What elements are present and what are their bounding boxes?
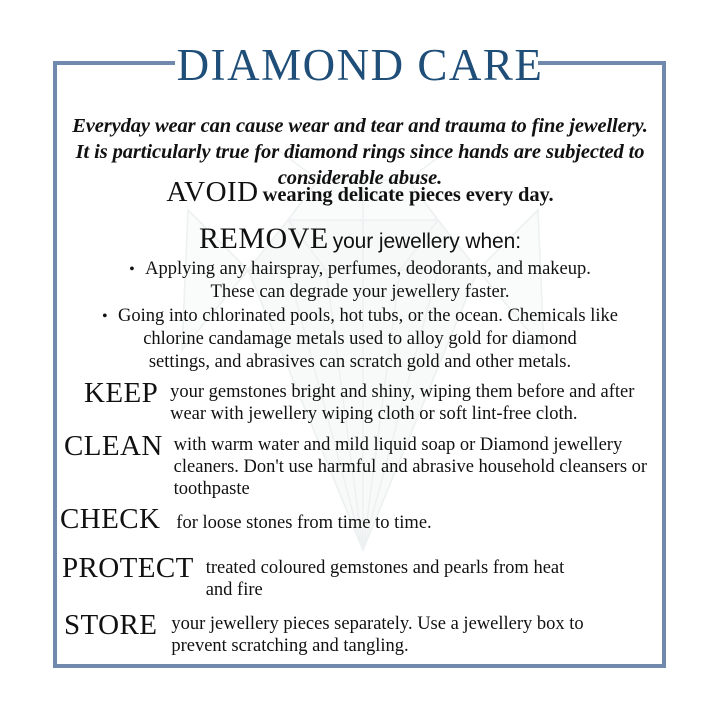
list-item: •Applying any hairspray, perfumes, deodo… (0, 258, 720, 304)
bullet-first-line: •Going into chlorinated pools, hot tubs,… (0, 305, 720, 328)
list-item: •Going into chlorinated pools, hot tubs,… (0, 305, 720, 374)
care-text-store: your jewellery pieces separately. Use a … (157, 610, 624, 657)
bullet-dot-icon: • (102, 305, 118, 328)
care-text-check: for loose stones from time to time. (160, 504, 530, 534)
headline-keyword-avoid: AVOID (166, 176, 258, 208)
care-section-protect: PROTECT treated coloured gemstones and p… (62, 553, 582, 601)
bullet-text: Applying any hairspray, perfumes, deodor… (145, 259, 591, 279)
care-keyword-store: STORE (64, 610, 157, 640)
page-title: DIAMOND CARE (0, 40, 720, 90)
bullet-text: Going into chlorinated pools, hot tubs, … (118, 306, 618, 326)
bullet-dot-icon: • (129, 258, 145, 281)
bullet-text: settings, and abrasives can scratch gold… (0, 351, 720, 374)
care-keyword-check: CHECK (60, 504, 160, 534)
care-section-check: CHECK for loose stones from time to time… (60, 504, 530, 534)
care-text-protect: treated coloured gemstones and pearls fr… (194, 553, 582, 601)
care-keyword-keep: KEEP (84, 378, 158, 408)
bullet-text: These can degrade your jewellery faster. (0, 281, 720, 304)
care-keyword-clean: CLEAN (64, 431, 163, 461)
care-section-store: STORE your jewellery pieces separately. … (64, 610, 624, 657)
headline-avoid: AVOID wearing delicate pieces every day. (0, 176, 720, 209)
care-keyword-protect: PROTECT (62, 553, 194, 583)
headline-text-remove: your jewellery when: (333, 230, 521, 253)
poster-content: DIAMOND CARE Everyday wear can cause wea… (0, 0, 720, 720)
headline-remove: REMOVE your jewellery when: (0, 222, 720, 256)
bullet-first-line: •Applying any hairspray, perfumes, deodo… (0, 258, 720, 281)
bullet-text: chlorine candamage metals used to alloy … (0, 328, 720, 351)
care-section-clean: CLEAN with warm water and mild liquid so… (64, 431, 659, 500)
headline-keyword-remove: REMOVE (199, 222, 329, 255)
care-text-keep: your gemstones bright and shiny, wiping … (158, 378, 652, 425)
headline-text-avoid: wearing delicate pieces every day. (263, 184, 554, 206)
care-section-keep: KEEP your gemstones bright and shiny, wi… (84, 378, 652, 425)
care-text-clean: with warm water and mild liquid soap or … (163, 431, 659, 500)
